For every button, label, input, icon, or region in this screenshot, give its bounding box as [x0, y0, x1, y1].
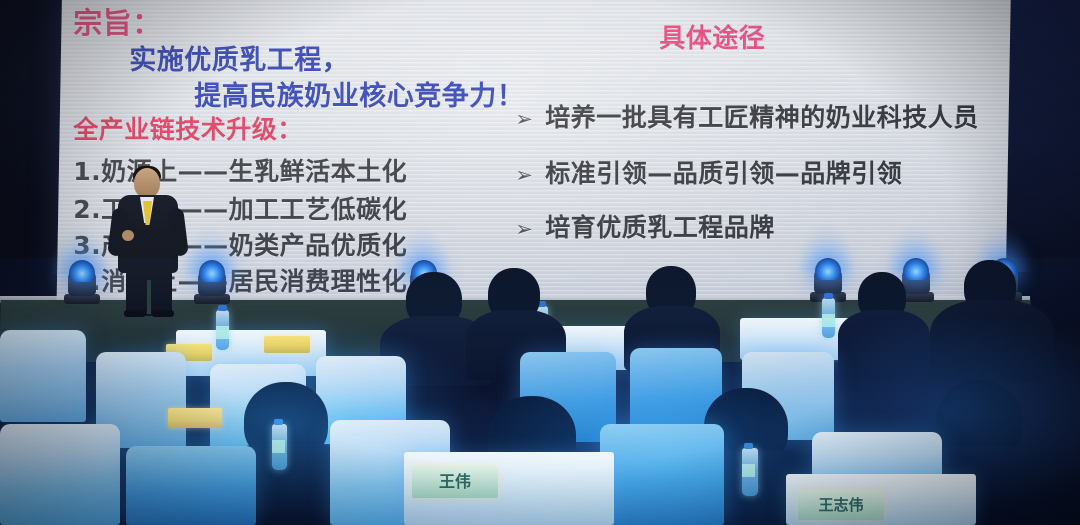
speaker-hand [122, 230, 134, 241]
slide-bullet-row: ➢培养一批具有工匠精神的奶业科技人员 [515, 98, 979, 134]
bottle-label [742, 464, 755, 477]
slide-bullet-label: 标准引领—品质引领—品牌引领 [545, 159, 902, 188]
slide-chain-label: 全产业链技术升级： [73, 110, 303, 146]
audience-chair [0, 424, 120, 525]
name-card [168, 408, 222, 428]
speaker-head [134, 168, 160, 198]
name-card [264, 336, 310, 353]
slide-right-title: 具体途径 [659, 18, 765, 55]
slide-aim-line-1: 实施优质乳工程， [129, 38, 349, 77]
moving-head-light [192, 258, 232, 304]
slide-bullet-label: 培养一批具有工匠精神的奶业科技人员 [545, 103, 979, 132]
audience-member-photographing [930, 250, 1050, 380]
speaker-shoe [152, 310, 174, 317]
audience-chair [600, 424, 724, 525]
slide-bullet-row: ➢标准引领—品质引领—品牌引领 [515, 154, 902, 190]
moving-head-light [62, 258, 102, 304]
arrow-bullet-icon: ➢ [515, 163, 545, 187]
water-bottle [272, 424, 287, 470]
light-lens-icon [199, 260, 225, 282]
slide-aim-line-2: 提高民族奶业核心竞争力！ [194, 74, 524, 113]
water-bottle [742, 448, 758, 496]
audience-chair [126, 446, 256, 525]
audience-shoulders [930, 300, 1054, 382]
slide-aim-label: 宗旨： [73, 0, 162, 42]
bottle-label [822, 314, 835, 327]
name-card: 王志伟 [798, 490, 884, 520]
audience-chair [0, 330, 86, 422]
arrow-bullet-icon: ➢ [515, 107, 545, 131]
light-lens-icon [69, 260, 95, 282]
bottle-label [216, 326, 229, 339]
conference-photo: 宗旨： 实施优质乳工程， 提高民族奶业核心竞争力！ 全产业链技术升级： 1.奶源… [0, 0, 1080, 525]
speaker-on-stage [104, 168, 196, 316]
audience-shoulders [838, 310, 930, 374]
speaker-shoe [124, 310, 146, 317]
bottle-label [272, 440, 285, 453]
slide-bullet-label: 培育优质乳工程品牌 [545, 213, 775, 242]
bottle-cap [274, 419, 283, 425]
audience-member [838, 272, 930, 372]
slide-bullet-row: ➢培育优质乳工程品牌 [515, 208, 775, 244]
arrow-bullet-icon: ➢ [515, 217, 545, 241]
bottle-cap [744, 443, 753, 449]
name-card: 王伟 [412, 466, 498, 498]
speaker-leg-gap [147, 280, 151, 314]
water-bottle [822, 298, 835, 338]
bottle-cap [218, 305, 227, 311]
water-bottle [216, 310, 229, 350]
bottle-cap [824, 293, 833, 299]
